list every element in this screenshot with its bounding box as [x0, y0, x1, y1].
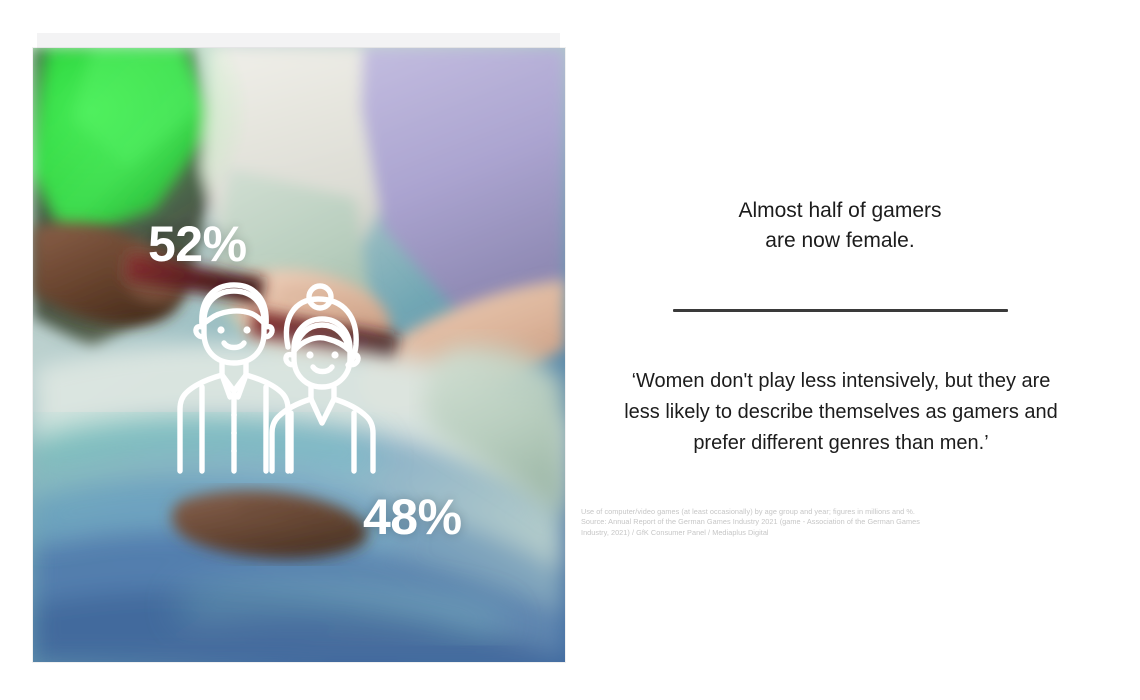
text-column: Almost half of gamers are now female. ‘W…: [600, 0, 1080, 700]
source-line-3: Industry, 2021) / GfK Consumer Panel / M…: [581, 528, 1051, 538]
stat-male-percent: 52%: [148, 219, 247, 269]
slide-canvas: 52% 48%: [0, 0, 1140, 700]
stat-female-percent: 48%: [363, 492, 462, 542]
source-caption: Use of computer/video games (at least oc…: [581, 507, 1051, 538]
people-pictogram-group: [168, 275, 383, 480]
source-line-2: Source: Annual Report of the German Game…: [581, 517, 1051, 527]
quote-line-1: ‘Women don't play less intensively, but …: [598, 366, 1084, 397]
photo-top-edge-band: [37, 33, 560, 49]
quote-line-2: less likely to describe themselves as ga…: [598, 397, 1084, 428]
headline: Almost half of gamers are now female.: [600, 196, 1080, 256]
source-line-1: Use of computer/video games (at least oc…: [581, 507, 1051, 517]
quote-line-3: prefer different genres than men.’: [598, 428, 1084, 459]
headline-line-2: are now female.: [600, 226, 1080, 256]
section-divider: [673, 309, 1008, 312]
pull-quote: ‘Women don't play less intensively, but …: [598, 366, 1084, 459]
headline-line-1: Almost half of gamers: [738, 199, 941, 222]
